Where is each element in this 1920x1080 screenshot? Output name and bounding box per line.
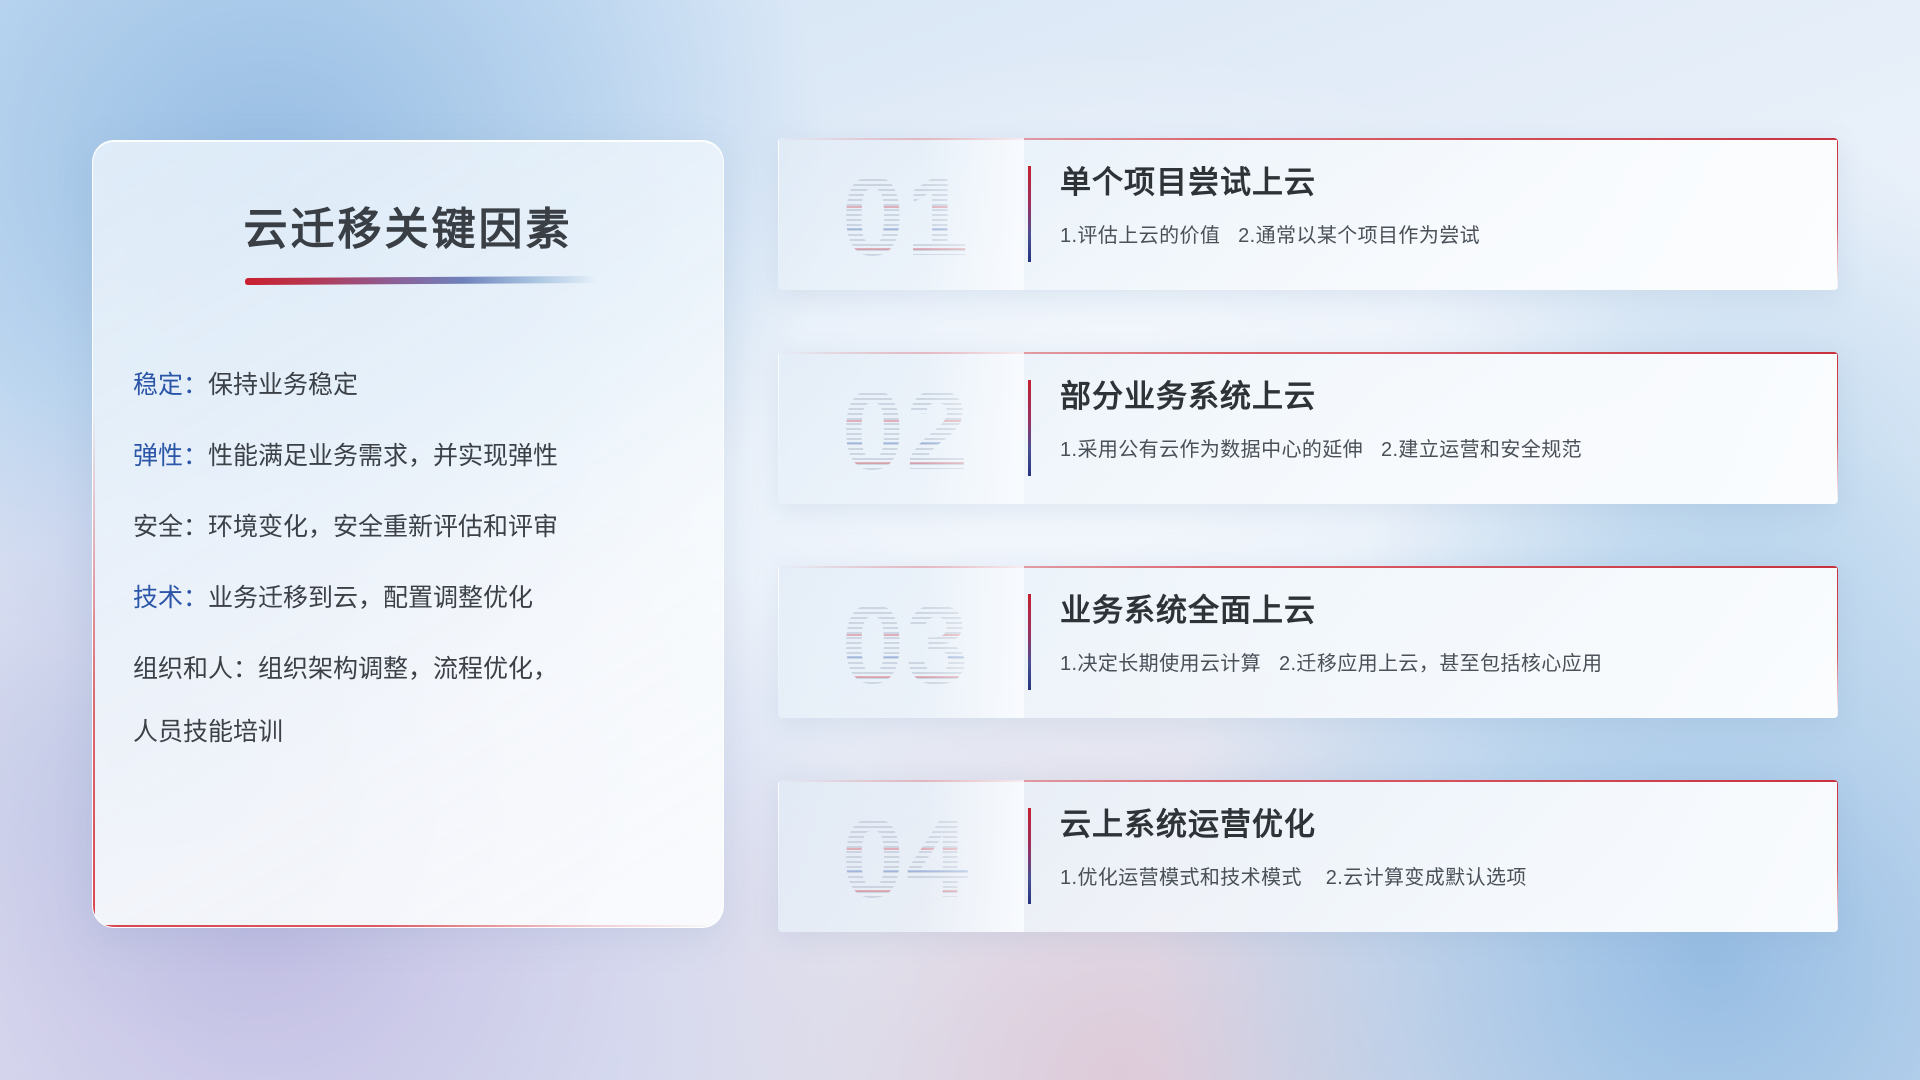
panel-accent-left-edge [93, 408, 95, 927]
card-divider-bar [1028, 380, 1031, 476]
factor-list: 稳定：保持业务稳定 弹性：性能满足业务需求，并实现弹性 安全：环境变化，安全重新… [133, 373, 695, 745]
step-card-01[interactable]: 01 01 01 单个项目尝试上云 1.评估上云的价值 2.通常以某个项目作为尝… [778, 138, 1838, 290]
card-right-accent [1837, 566, 1839, 718]
step-number-watermark-blue-scanlines: 04 [806, 786, 1006, 930]
card-body: 业务系统全面上云 1.决定长期使用云计算 2.迁移应用上云，甚至包括核心应用 [1060, 592, 1798, 676]
list-item: 技术：业务迁移到云，配置调整优化 [133, 586, 695, 611]
step-card-04[interactable]: 04 04 04 云上系统运营优化 1.优化运营模式和技术模式 2.云计算变成默… [778, 780, 1838, 932]
slide-stage: 云迁移关键因素 稳定：保持业务稳定 弹性：性能满足业务需求，并实现弹性 安全：环… [0, 0, 1920, 1080]
factor-text: 人员技能培训 [133, 718, 283, 746]
factor-label: 弹性： [133, 442, 208, 470]
card-top-accent [778, 352, 1838, 354]
factor-text: 环境变化，安全重新评估和评审 [208, 513, 558, 541]
card-divider-bar [1028, 594, 1031, 690]
step-detail: 1.优化运营模式和技术模式 2.云计算变成默认选项 [1060, 861, 1798, 890]
card-left-highlight [778, 352, 779, 504]
factor-label: 稳定： [133, 371, 208, 399]
step-detail: 1.采用公有云作为数据中心的延伸 2.建立运营和安全规范 [1060, 433, 1798, 462]
card-left-highlight [778, 780, 779, 932]
card-top-accent [778, 566, 1838, 568]
factor-label: 技术： [133, 584, 208, 612]
card-body: 部分业务系统上云 1.采用公有云作为数据中心的延伸 2.建立运营和安全规范 [1060, 378, 1798, 462]
panel-accent-bottom-edge [93, 925, 723, 927]
migration-steps-list: 01 01 01 单个项目尝试上云 1.评估上云的价值 2.通常以某个项目作为尝… [778, 138, 1838, 932]
card-right-accent [1837, 352, 1839, 504]
page-title: 云迁移关键因素 [93, 193, 723, 257]
list-item: 弹性：性能满足业务需求，并实现弹性 [133, 444, 695, 469]
card-divider-bar [1028, 166, 1031, 262]
factor-text: 保持业务稳定 [208, 371, 358, 399]
step-number-watermark-blue-scanlines: 02 [806, 358, 1006, 502]
list-item-continuation: 人员技能培训 [133, 720, 695, 745]
step-detail: 1.决定长期使用云计算 2.迁移应用上云，甚至包括核心应用 [1060, 647, 1798, 676]
title-underline-gradient [245, 276, 597, 285]
factor-text: 组织架构调整，流程优化， [258, 655, 558, 683]
factor-text: 业务迁移到云，配置调整优化 [208, 584, 533, 612]
step-title: 部分业务系统上云 [1060, 378, 1798, 415]
list-item: 安全：环境变化，安全重新评估和评审 [133, 515, 695, 540]
card-top-accent [778, 780, 1838, 782]
card-left-highlight [778, 138, 779, 290]
step-number-watermark-blue-scanlines: 01 [806, 144, 1006, 288]
card-right-accent [1837, 138, 1839, 290]
key-factors-panel: 云迁移关键因素 稳定：保持业务稳定 弹性：性能满足业务需求，并实现弹性 安全：环… [92, 140, 724, 928]
step-title: 业务系统全面上云 [1060, 592, 1798, 629]
factor-label: 安全： [133, 513, 208, 541]
card-body: 单个项目尝试上云 1.评估上云的价值 2.通常以某个项目作为尝试 [1060, 164, 1798, 248]
list-item: 组织和人：组织架构调整，流程优化， [133, 657, 695, 682]
factor-text: 性能满足业务需求，并实现弹性 [208, 442, 558, 470]
card-right-accent [1837, 780, 1839, 932]
card-divider-bar [1028, 808, 1031, 904]
card-top-accent [778, 138, 1838, 140]
step-title: 单个项目尝试上云 [1060, 164, 1798, 201]
factor-label: 组织和人： [133, 655, 258, 683]
card-body: 云上系统运营优化 1.优化运营模式和技术模式 2.云计算变成默认选项 [1060, 806, 1798, 890]
step-number-watermark-blue-scanlines: 03 [806, 572, 1006, 716]
step-card-02[interactable]: 02 02 02 部分业务系统上云 1.采用公有云作为数据中心的延伸 2.建立运… [778, 352, 1838, 504]
list-item: 稳定：保持业务稳定 [133, 373, 695, 398]
step-card-03[interactable]: 03 03 03 业务系统全面上云 1.决定长期使用云计算 2.迁移应用上云，甚… [778, 566, 1838, 718]
step-detail: 1.评估上云的价值 2.通常以某个项目作为尝试 [1060, 219, 1798, 248]
card-left-highlight [778, 566, 779, 718]
step-title: 云上系统运营优化 [1060, 806, 1798, 843]
